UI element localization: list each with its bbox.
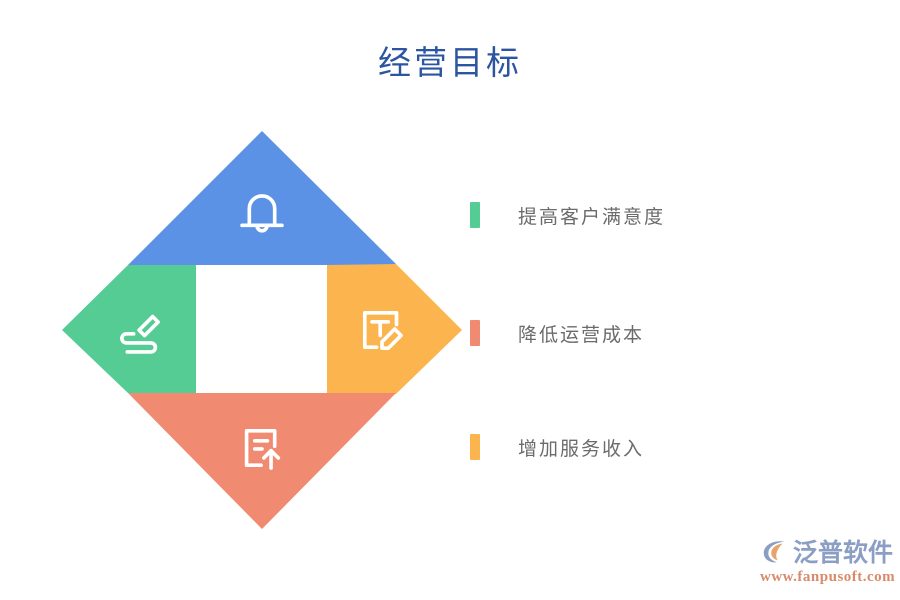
- legend-item-2[interactable]: 降低运营成本: [470, 318, 644, 348]
- legend-item-3[interactable]: 增加服务收入: [470, 432, 644, 462]
- legend-item-1[interactable]: 提高客户满意度: [470, 200, 665, 230]
- legend-swatch-1: [470, 202, 480, 228]
- diamond-diagram: [62, 131, 462, 529]
- legend-label-3: 增加服务收入: [518, 434, 644, 461]
- watermark: 泛普软件 www.fanpusoft.com: [760, 534, 895, 592]
- quadrant-left-shape[interactable]: [62, 265, 196, 393]
- quadrant-bottom-shape[interactable]: [128, 393, 396, 529]
- page-title: 经营目标: [0, 36, 900, 84]
- watermark-brand-text: 泛普软件: [793, 533, 893, 569]
- legend-label-2: 降低运营成本: [518, 320, 644, 347]
- diamond-shape: [62, 131, 462, 529]
- legend-label-1: 提高客户满意度: [518, 202, 665, 229]
- watermark-url-text: www.fanpusoft.com: [760, 569, 895, 586]
- legend-swatch-3: [470, 434, 480, 460]
- fanpu-logo-icon: [760, 536, 790, 566]
- slide-canvas: 经营目标: [0, 0, 900, 600]
- center-hole: [196, 265, 327, 393]
- quadrant-top-shape[interactable]: [128, 131, 396, 265]
- legend-swatch-2: [470, 320, 480, 346]
- quadrant-right-shape[interactable]: [327, 264, 462, 394]
- watermark-brand-row: 泛普软件: [760, 534, 895, 568]
